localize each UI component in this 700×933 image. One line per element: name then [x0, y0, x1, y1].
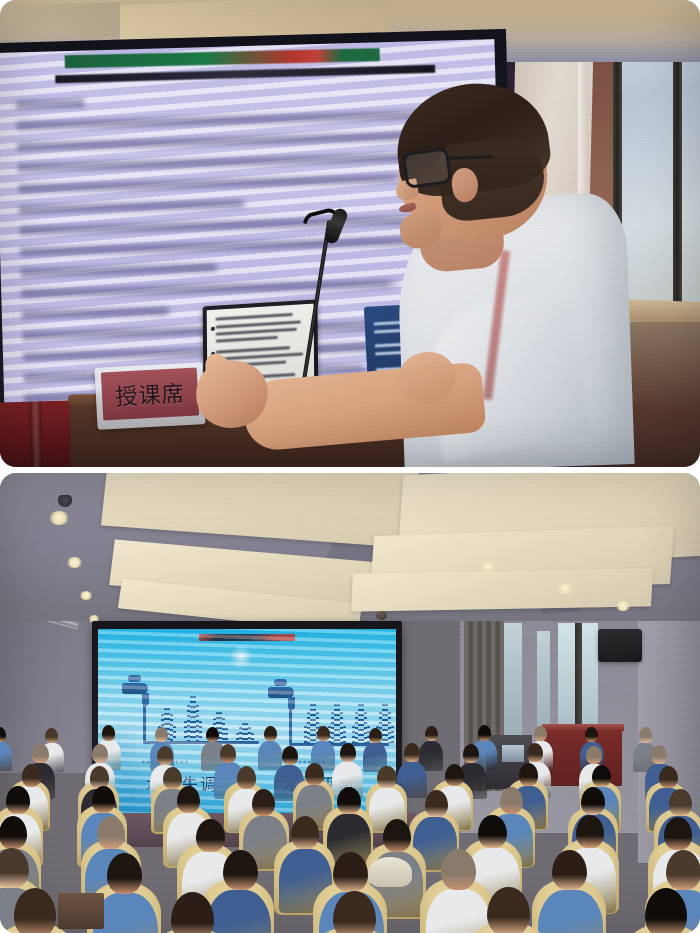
- ceiling-panel-6: [351, 568, 653, 611]
- audience-member-head: [651, 745, 667, 764]
- audience-member-head: [163, 767, 182, 789]
- audience-member-head: [317, 726, 330, 741]
- audience-member-head: [445, 764, 464, 786]
- ceiling-panel-left: [0, 2, 120, 40]
- audience-member-head: [639, 727, 652, 742]
- audience-member-torso: [258, 741, 282, 770]
- audience-member-head: [97, 816, 126, 849]
- glass-panel-1: [504, 623, 522, 743]
- audience-member-head: [519, 763, 538, 785]
- audience-member-head: [102, 725, 115, 740]
- dome-camera-icon: [376, 611, 387, 620]
- photo-top: 授课席: [0, 0, 700, 467]
- audience-member-head: [666, 850, 700, 890]
- audience-member-head: [478, 815, 507, 848]
- audience-member-head: [220, 744, 236, 763]
- side-table: [58, 893, 104, 929]
- audience-member-head: [534, 726, 547, 741]
- audience-member-head: [441, 849, 476, 889]
- audience-member-head: [337, 787, 361, 814]
- audience-member-head: [669, 789, 693, 816]
- av-rack-monitor: [502, 745, 524, 762]
- audience-member-head: [585, 727, 598, 742]
- downlight-icon-2: [66, 557, 83, 568]
- audience-member-head: [552, 850, 587, 890]
- placard-text: 授课席: [115, 376, 186, 412]
- audience-member-head: [592, 765, 611, 787]
- audience-member-head: [237, 766, 256, 788]
- audience-member-head: [223, 850, 258, 890]
- audience-member-head: [340, 743, 356, 762]
- audience-member-head: [425, 790, 449, 817]
- audience-member-head: [264, 726, 277, 741]
- smoke-detector-icon: [58, 495, 72, 507]
- audience-member-head: [463, 744, 479, 763]
- audience-member-head: [576, 815, 605, 848]
- audience-member-head: [107, 853, 142, 893]
- audience-member-head: [527, 743, 543, 762]
- audience-member-head: [32, 744, 48, 763]
- audience-member-head: [291, 816, 320, 849]
- audience-member-head: [196, 819, 225, 852]
- audience-member-head: [92, 786, 116, 813]
- audience-member-head: [500, 787, 524, 814]
- audience-member-head: [377, 766, 396, 788]
- presenter-podium-top: [542, 724, 624, 731]
- glasses-icon: [402, 147, 453, 189]
- downlight-icon-3: [79, 591, 93, 600]
- name-placard: 授课席: [101, 368, 199, 421]
- audience-member-head: [155, 727, 168, 742]
- downlight-icon-6: [480, 561, 496, 571]
- audience-member-head: [333, 852, 368, 892]
- audience-member-head: [383, 819, 412, 852]
- audience-member-head: [92, 744, 108, 763]
- audience-member-head: [305, 763, 324, 785]
- audience-member-head: [0, 816, 27, 849]
- downlight-icon-7: [615, 601, 631, 611]
- audience-member-head: [6, 786, 30, 813]
- audience-member-head: [659, 766, 678, 788]
- audience-member-cap: [368, 857, 412, 887]
- audience-member-head: [425, 726, 438, 741]
- photo-bottom: ▪ ▪ ▪ ▪ ▪ ▪ ▪ ▪ ▪ ▪ ▪ ▪ ▪ ▪ ▪ ▪ ▪ ▪ ▪ 水力…: [0, 473, 700, 933]
- audience-member-head: [369, 728, 382, 743]
- audience-member-head: [45, 728, 58, 743]
- audience-member-head: [478, 725, 491, 740]
- audience-member-head: [177, 786, 201, 813]
- audience-member-torso: [426, 889, 491, 933]
- audience-member-head: [586, 746, 602, 765]
- audience-member-head: [282, 746, 298, 765]
- downlight-icon-1: [48, 511, 70, 525]
- audience-member-head: [14, 888, 57, 933]
- audience-member-head: [22, 764, 41, 786]
- audience-member-head: [404, 743, 420, 762]
- photo-collage: 授课席: [0, 0, 700, 933]
- downlight-icon-5: [556, 583, 574, 594]
- audience-member-head: [487, 887, 530, 933]
- audience-member-head: [252, 789, 276, 816]
- audience-member-head: [581, 787, 605, 814]
- audience-member-head: [157, 746, 173, 765]
- wall-speaker: [598, 629, 642, 662]
